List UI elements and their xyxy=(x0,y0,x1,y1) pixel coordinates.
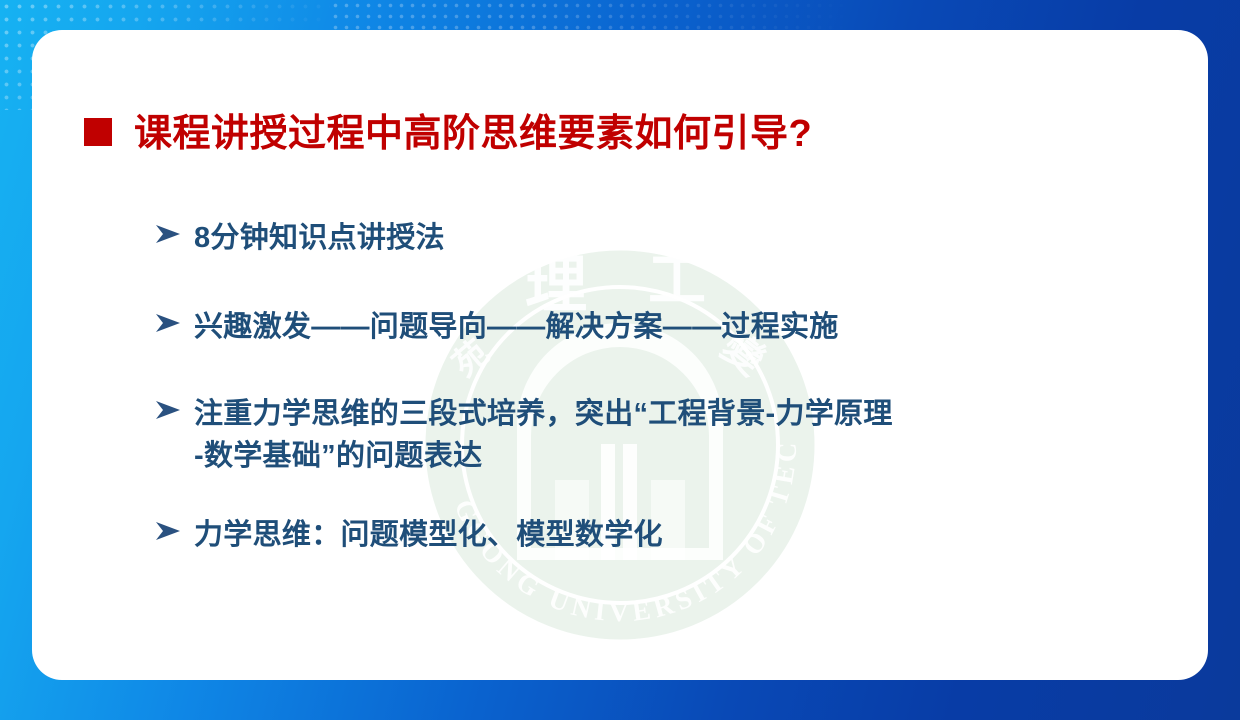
list-item: 8分钟知识点讲授法 xyxy=(154,218,1164,259)
title-row: 课程讲授过程中高阶思维要素如何引导? xyxy=(84,102,812,157)
content-card: 理 工 變 苑 GGONG UNIVERSITY OF TECHNOLOGY 课… xyxy=(32,30,1208,680)
list-item-line-2: -数学基础”的问题表达 xyxy=(194,436,893,477)
bullet-list: 8分钟知识点讲授法 兴趣激发——问题导向——解决方案——过程实施 注重力学 xyxy=(154,218,1164,556)
list-item-label: 兴趣激发——问题导向——解决方案——过程实施 xyxy=(194,307,839,348)
arrow-bullet-icon xyxy=(154,307,194,334)
list-item: 兴趣激发——问题导向——解决方案——过程实施 xyxy=(154,307,1164,348)
list-item-label: 8分钟知识点讲授法 xyxy=(194,218,445,259)
arrow-bullet-icon xyxy=(154,515,194,542)
list-item: 注重力学思维的三段式培养，突出“工程背景-力学原理 -数学基础”的问题表达 xyxy=(154,394,1164,476)
arrow-bullet-icon xyxy=(154,218,194,245)
page-title: 课程讲授过程中高阶思维要素如何引导? xyxy=(134,102,812,157)
arrow-bullet-icon xyxy=(154,394,194,421)
list-item-label: 力学思维：问题模型化、模型数学化 xyxy=(194,515,663,556)
red-square-marker-icon xyxy=(84,118,112,146)
slide-root: 理 工 變 苑 GGONG UNIVERSITY OF TECHNOLOGY 课… xyxy=(0,0,1240,720)
list-item: 力学思维：问题模型化、模型数学化 xyxy=(154,515,1164,556)
list-item-label: 注重力学思维的三段式培养，突出“工程背景-力学原理 -数学基础”的问题表达 xyxy=(194,394,893,476)
list-item-line-1: 注重力学思维的三段式培养，突出“工程背景-力学原理 xyxy=(194,398,893,430)
